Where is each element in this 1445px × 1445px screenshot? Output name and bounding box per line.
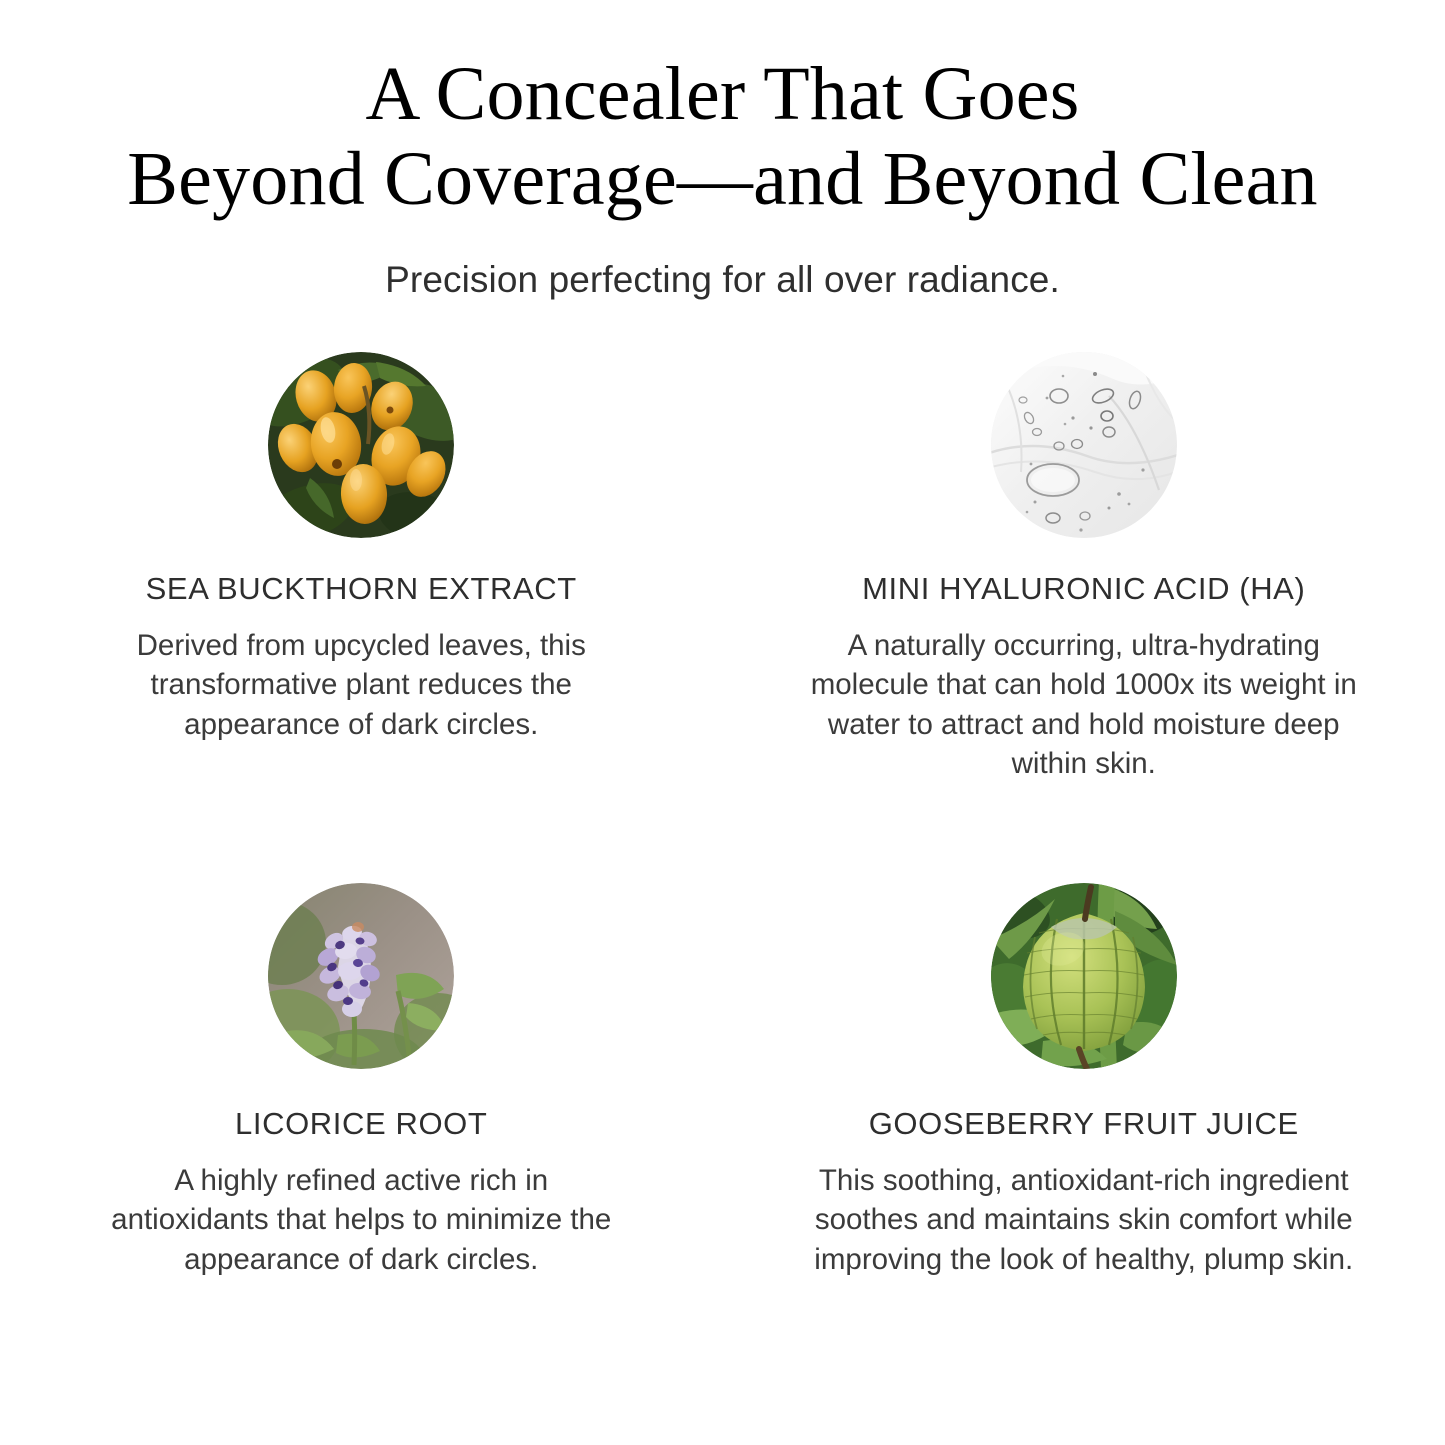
card-body-gooseberry: This soothing, antioxidant-rich ingredie…	[804, 1161, 1364, 1279]
card-title-hyaluronic-acid: MINI HYALURONIC ACID (HA)	[862, 572, 1305, 606]
ingredient-card-hyaluronic-acid: MINI HYALURONIC ACID (HA) A naturally oc…	[723, 352, 1445, 783]
sea-buckthorn-icon	[268, 352, 454, 538]
ingredient-card-sea-buckthorn: SEA BUCKTHORN EXTRACT Derived from upcyc…	[0, 352, 723, 783]
infographic-page: A Concealer That Goes Beyond Coverage—an…	[0, 0, 1445, 1445]
ingredient-card-licorice-root: LICORICE ROOT A highly refined active ri…	[0, 883, 723, 1279]
card-title-sea-buckthorn: SEA BUCKTHORN EXTRACT	[146, 572, 577, 606]
headline-line-2: Beyond Coverage—and Beyond Clean	[70, 139, 1375, 220]
page-title: A Concealer That Goes Beyond Coverage—an…	[0, 54, 1445, 221]
subtitle: Precision perfecting for all over radian…	[0, 259, 1445, 301]
card-body-licorice-root: A highly refined active rich in antioxid…	[101, 1161, 621, 1279]
card-title-licorice-root: LICORICE ROOT	[235, 1107, 487, 1141]
card-body-hyaluronic-acid: A naturally occurring, ultra-hydrating m…	[804, 626, 1364, 783]
ingredient-grid: SEA BUCKTHORN EXTRACT Derived from upcyc…	[0, 352, 1445, 1279]
card-title-gooseberry: GOOSEBERRY FRUIT JUICE	[869, 1107, 1299, 1141]
licorice-root-icon	[268, 883, 454, 1069]
header: A Concealer That Goes Beyond Coverage—an…	[0, 0, 1445, 301]
gooseberry-fruit-icon	[991, 883, 1177, 1069]
hyaluronic-acid-gel-icon	[991, 352, 1177, 538]
card-body-sea-buckthorn: Derived from upcycled leaves, this trans…	[101, 626, 621, 744]
ingredient-card-gooseberry: GOOSEBERRY FRUIT JUICE This soothing, an…	[723, 883, 1445, 1279]
headline-line-1: A Concealer That Goes	[70, 54, 1375, 135]
